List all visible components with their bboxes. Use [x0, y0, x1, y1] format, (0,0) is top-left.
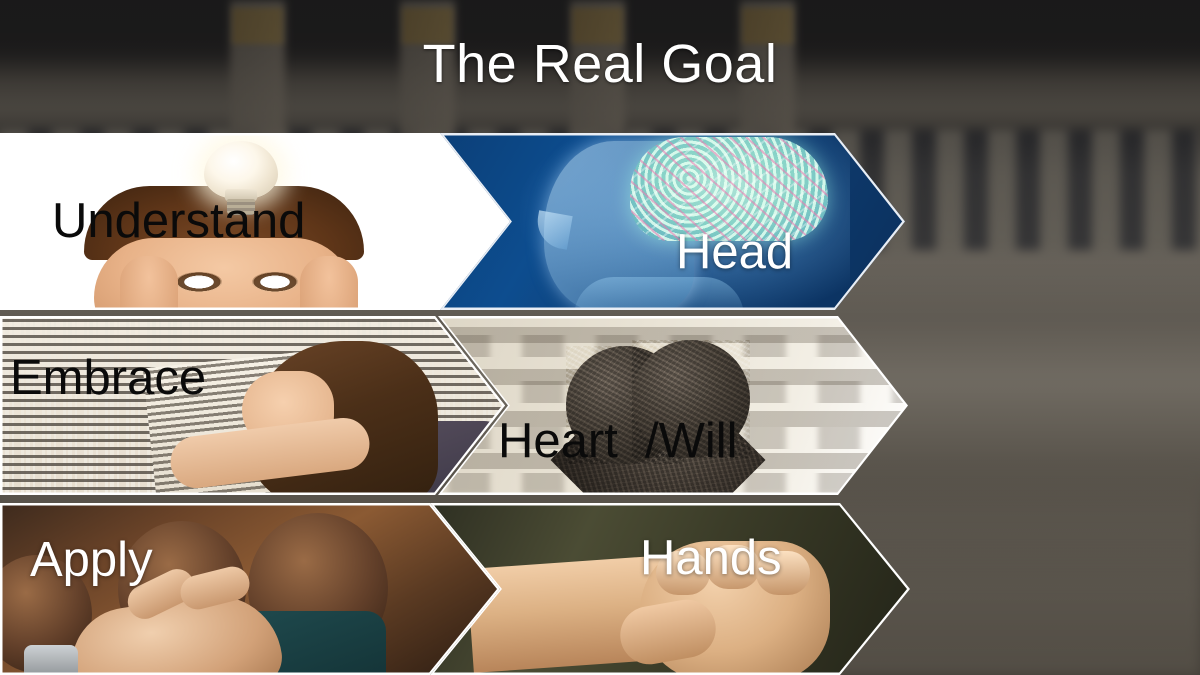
- slide-canvas: The Real Goal: [0, 0, 1200, 675]
- woman-hugging-book-image: [170, 335, 505, 495]
- chevron-row-heart: Embrace Heart /Will: [0, 316, 1200, 495]
- chevron-label-embrace: Embrace: [10, 354, 206, 403]
- chevron-apply[interactable]: Apply: [0, 503, 500, 675]
- apply-surface: [0, 503, 500, 675]
- wristwatch-icon: [24, 645, 78, 675]
- page-title: The Real Goal: [0, 36, 1200, 93]
- chevron-row-head: Understand Head: [0, 133, 1200, 310]
- man-left-eye: [176, 272, 222, 292]
- blue-head-brain-image: [520, 133, 850, 310]
- man-right-eye: [252, 272, 298, 292]
- chevron-understand[interactable]: Understand: [0, 133, 510, 310]
- hands-surface: [430, 503, 910, 675]
- chevron-heart-will[interactable]: Heart /Will: [438, 316, 908, 495]
- chevron-row-hands: Apply Hands: [0, 503, 1200, 675]
- man-right-hand: [300, 256, 358, 310]
- children-reaching-image: [0, 503, 500, 675]
- heart-surface: [438, 316, 908, 495]
- chevron-label-apply: Apply: [30, 536, 153, 585]
- embrace-surface: [0, 316, 505, 495]
- chevron-hands[interactable]: Hands: [430, 503, 910, 675]
- chevron-label-understand: Understand: [52, 197, 305, 246]
- chevron-label-heart-will: Heart /Will: [498, 417, 738, 466]
- man-left-hand: [120, 256, 178, 310]
- chevron-embrace[interactable]: Embrace: [0, 316, 505, 495]
- chevron-label-head: Head: [676, 228, 793, 277]
- chevron-label-hands: Hands: [640, 534, 782, 583]
